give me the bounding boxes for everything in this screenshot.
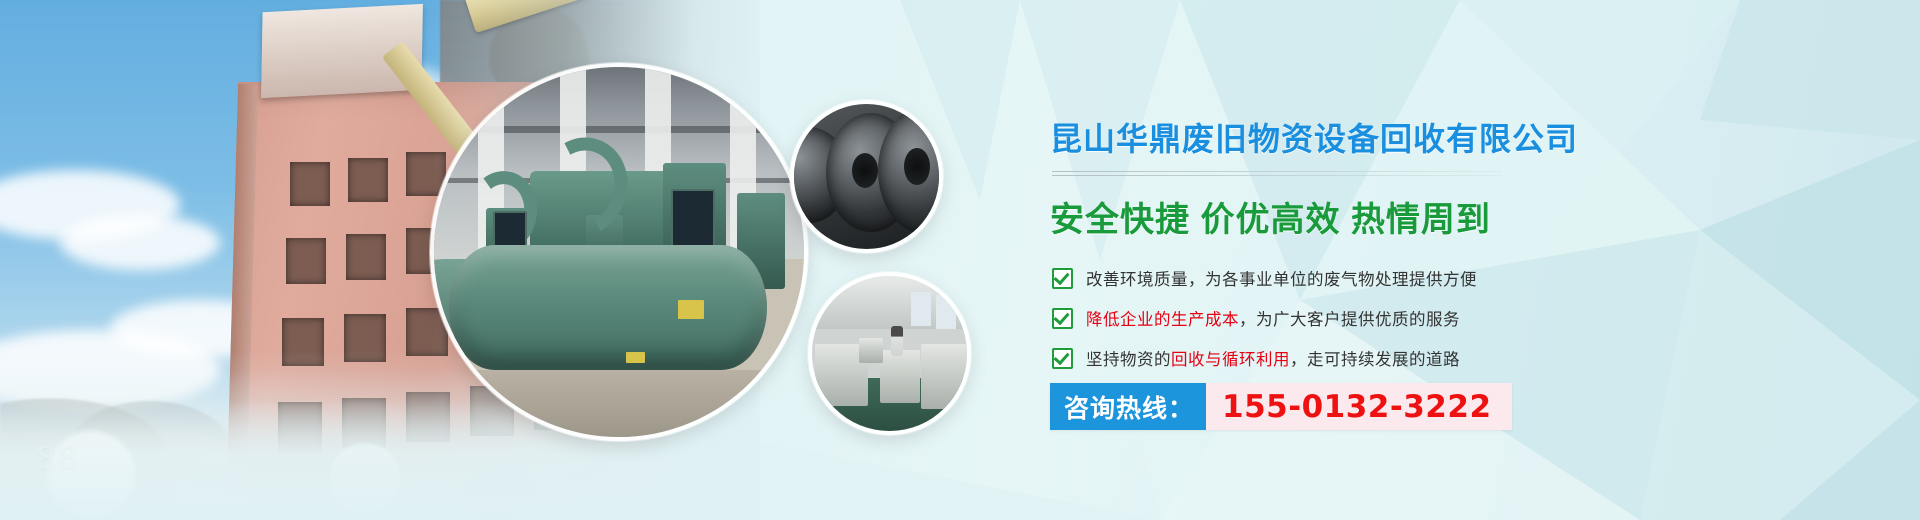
slogan: 安全快捷 价优高效 热情周到 (1050, 192, 1491, 241)
control-panel (671, 189, 716, 252)
chiller-pressure-vessel (449, 245, 767, 371)
window (911, 292, 931, 326)
feature-text: 降低企业的生产成本，为广大客户提供优质的服务 (1086, 306, 1460, 330)
chiller-scene (434, 67, 804, 437)
window (286, 238, 326, 284)
production-line-scene (812, 276, 967, 431)
feature-text: 坚持物资的回收与循环利用，走可持续发展的道路 (1086, 346, 1460, 370)
window (346, 234, 386, 280)
coil-core-hole (852, 153, 878, 188)
check-icon (1052, 348, 1073, 369)
work-bench (921, 344, 968, 409)
title-divider (1052, 171, 1502, 177)
feature-list: 改善环境质量，为各事业单位的废气物处理提供方便 降低企业的生产成本，为广大客户提… (1052, 258, 1572, 378)
work-bench (880, 350, 920, 403)
hotline-bar[interactable]: 咨询热线： 155-0132-3222 (1050, 383, 1512, 430)
list-item: 坚持物资的回收与循环利用，走可持续发展的道路 (1052, 338, 1572, 378)
concrete-floor (434, 370, 804, 437)
window (936, 295, 956, 329)
steel-coils-circle-photo (790, 100, 943, 253)
window (348, 158, 388, 202)
check-icon (1052, 308, 1073, 329)
chiller-circle-photo (430, 63, 808, 441)
feature-highlight: 降低企业的生产成本 (1086, 311, 1239, 329)
feature-tail: ，走可持续发展的道路 (1290, 351, 1460, 369)
feature-lead: 坚持物资的 (1086, 351, 1171, 369)
production-line-circle-photo (808, 272, 971, 435)
feature-tail: ，为广大客户提供优质的服务 (1239, 311, 1460, 329)
list-item: 降低企业的生产成本，为广大客户提供优质的服务 (1052, 298, 1572, 338)
window (290, 162, 330, 206)
check-icon (1052, 268, 1073, 289)
feature-highlight: 回收与循环利用 (1171, 351, 1290, 369)
cloud (60, 215, 220, 270)
warning-label (678, 300, 704, 319)
hotline-number[interactable]: 155-0132-3222 (1206, 383, 1512, 430)
hotline-label: 咨询热线： (1050, 383, 1206, 430)
work-bench (859, 338, 884, 363)
warning-label (626, 352, 645, 363)
company-name: 昆山华鼎废旧物资设备回收有限公司 (1050, 114, 1578, 160)
steel-coils-scene (794, 104, 939, 249)
feature-text: 改善环境质量，为各事业单位的废气物处理提供方便 (1086, 266, 1477, 290)
list-item: 改善环境质量，为各事业单位的废气物处理提供方便 (1052, 258, 1572, 298)
worker (891, 326, 903, 356)
feature-lead: 改善环境质量，为各事业单位的废气物处理提供方便 (1086, 271, 1477, 289)
promotional-banner: 88 (0, 0, 1920, 520)
text-panel: 昆山华鼎废旧物资设备回收有限公司 安全快捷 价优高效 热情周到 改善环境质量，为… (1050, 0, 1610, 520)
